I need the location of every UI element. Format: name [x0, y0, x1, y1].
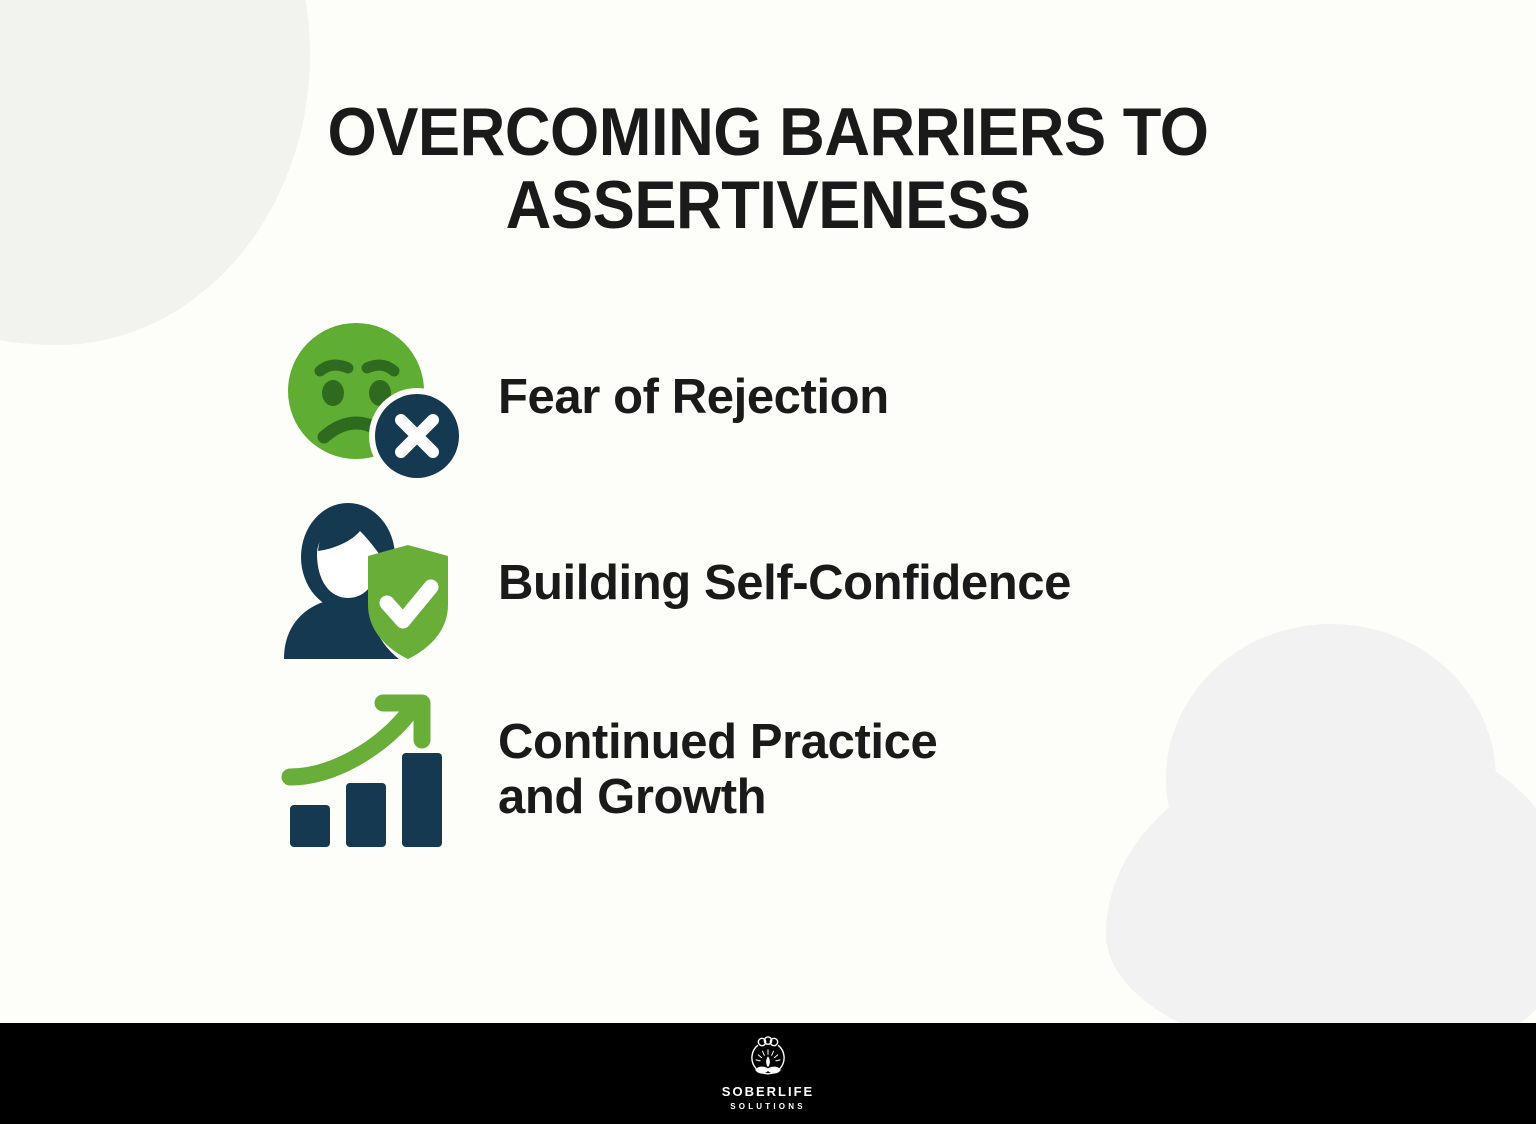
list-item: Fear of Rejection — [272, 305, 1272, 491]
list-item: Continued Practice and Growth — [272, 677, 1272, 863]
slide-canvas: OVERCOMING BARRIERS TO ASSERTIVENESS — [0, 0, 1536, 1124]
soberlife-lotus-sunburst-icon — [745, 1036, 791, 1082]
list-item-label: Building Self-Confidence — [498, 556, 1071, 611]
list-item-label: Continued Practice and Growth — [498, 715, 937, 826]
list-item-label: Fear of Rejection — [498, 370, 889, 425]
footer-logo-name: SOBERLIFE — [722, 1085, 814, 1098]
page-title: OVERCOMING BARRIERS TO ASSERTIVENESS — [54, 96, 1482, 243]
footer-logo-subtitle: SOLUTIONS — [730, 1103, 805, 1111]
person-with-shield-check-icon — [272, 499, 472, 669]
list-item: Building Self-Confidence — [272, 491, 1272, 677]
growth-bar-chart-arrow-icon — [272, 685, 472, 855]
barriers-list: Fear of Rejection — [272, 305, 1272, 863]
footer-bar: SOBERLIFE SOLUTIONS — [0, 1023, 1536, 1124]
sad-face-with-x-badge-icon — [272, 313, 472, 483]
